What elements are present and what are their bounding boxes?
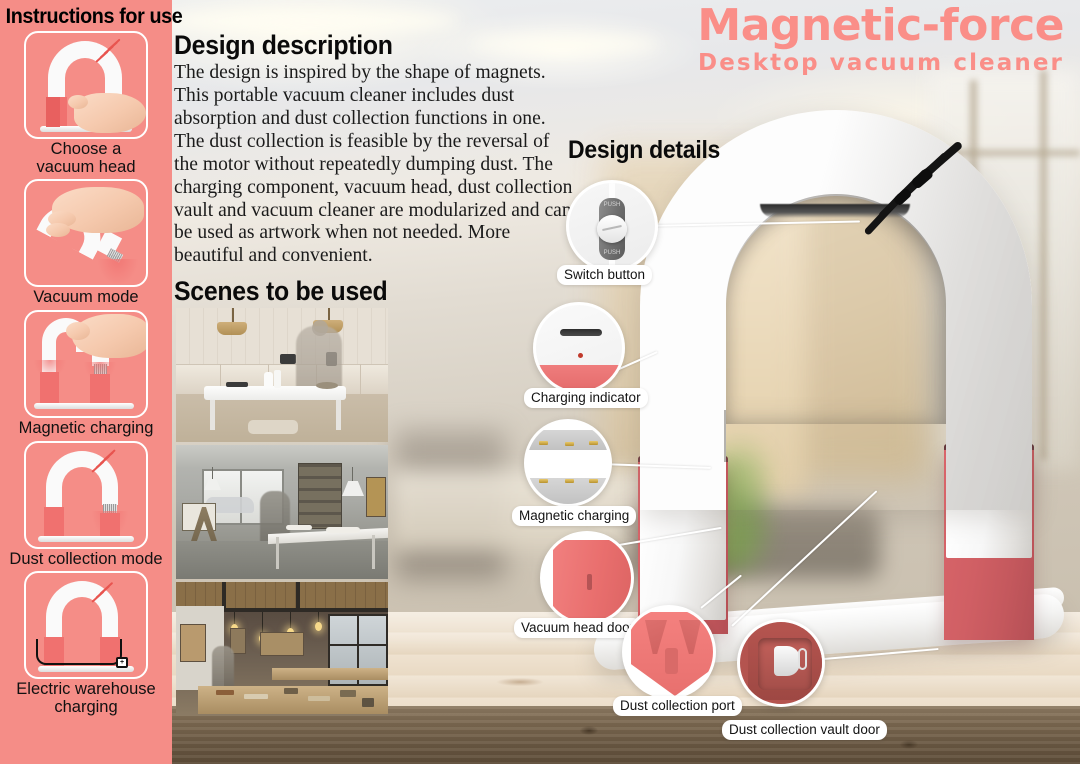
indicator-led-icon <box>578 353 583 358</box>
power-cord-icon <box>36 639 122 665</box>
sidebar-item-label: Electric warehousecharging <box>0 679 172 718</box>
contact-band-upper <box>527 430 609 450</box>
dust-vault-door-closeup <box>737 619 825 707</box>
scene-photo-kitchen <box>176 308 388 442</box>
scene-photo-studio <box>176 445 388 579</box>
sidebar-item-label: Choose avacuum head <box>0 139 172 178</box>
pendant-lamp-icon <box>342 481 364 496</box>
scenes-heading-wrap: Scenes to be used <box>174 276 406 307</box>
poster-title: Magnetic-force Desktop vacuum cleaner <box>697 4 1064 76</box>
right-white-leg <box>946 508 1032 558</box>
sidebar-item-dust-collection-mode[interactable]: Dust collection mode <box>0 441 172 571</box>
title-subtitle: Desktop vacuum cleaner <box>697 50 1064 76</box>
hand-picking-vacuum-head-icon <box>24 31 148 139</box>
sidebar-item-label: Vacuum mode <box>0 287 172 309</box>
callout-label-switch-button: Switch button <box>557 265 652 285</box>
scene-photo-loft <box>176 582 388 716</box>
hanging-bulb-icon <box>315 622 322 631</box>
description-body: The design is inspired by the shape of m… <box>174 62 574 268</box>
description-block: Design description The design is inspire… <box>174 30 574 268</box>
title-main: Magnetic-force <box>697 4 1064 49</box>
callout-label-vacuum-head-door: Vacuum head door <box>514 618 641 638</box>
product-render <box>612 110 1080 670</box>
details-heading: Design details <box>568 136 720 165</box>
person-head <box>312 320 328 336</box>
vault-handle-icon <box>798 648 807 670</box>
contact-gap <box>527 450 609 464</box>
hand-placing-on-dock-icon <box>24 310 148 418</box>
plug-icon: + <box>116 657 128 668</box>
magnetic-contacts-closeup <box>524 419 612 507</box>
dust-collection-icon <box>24 441 148 549</box>
dust-collection-port-closeup <box>622 605 716 699</box>
bookshelf-icon <box>298 463 342 529</box>
leg-seam <box>724 410 726 462</box>
callout-label-charging-indicator: Charging indicator <box>524 388 648 408</box>
sidebar-item-label: Dust collection mode <box>0 549 172 571</box>
poster-canvas: Magnetic-force Desktop vacuum cleaner De… <box>0 0 1080 764</box>
signal-wave-graphic <box>864 166 994 252</box>
switch-button-closeup: PUSH PUSH <box>566 180 658 272</box>
sidebar-item-electric-warehouse-charging[interactable]: + Electric warehousecharging <box>0 571 172 718</box>
cable-charging-icon: + <box>24 571 148 679</box>
wall-painting-icon <box>260 632 304 656</box>
charging-indicator-closeup <box>533 302 625 394</box>
person-silhouette <box>212 646 234 690</box>
instructions-sidebar: Instructions for use <box>0 0 172 764</box>
cookware-icon <box>280 354 296 364</box>
sidebar-heading: Instructions for use <box>0 3 162 31</box>
scene-photo-list <box>176 308 388 719</box>
door-latch-icon <box>587 574 592 590</box>
vacuum-head-door-closeup <box>540 531 634 625</box>
vault-door-disc-icon <box>774 646 800 676</box>
sidebar-item-vacuum-mode[interactable]: Vacuum mode <box>0 179 172 309</box>
sidebar-item-choose-vacuum-head[interactable]: Choose avacuum head <box>0 31 172 178</box>
hand-holding-vacuum-icon <box>24 179 148 287</box>
left-white-leg <box>640 508 726 620</box>
sidebar-item-magnetic-charging[interactable]: Magnetic charging <box>0 310 172 440</box>
callout-label-dust-collection-port: Dust collection port <box>613 696 742 716</box>
callout-label-magnetic-charging: Magnetic charging <box>512 506 636 526</box>
workbench <box>272 668 388 680</box>
wall-painting-icon <box>180 624 206 662</box>
coral-door-panel <box>553 540 631 624</box>
sidebar-item-label: Magnetic charging <box>0 418 172 440</box>
description-heading: Design description <box>174 30 542 61</box>
callout-label-dust-collection-vault-door: Dust collection vault door <box>722 720 887 740</box>
finger-icon <box>66 322 90 340</box>
contact-band-lower <box>527 478 609 504</box>
finger-icon <box>68 95 88 109</box>
ceiling-light-icon <box>160 10 460 32</box>
port-stem-icon <box>665 648 678 674</box>
scenes-heading: Scenes to be used <box>174 276 387 307</box>
charging-port-icon <box>560 329 602 336</box>
pendant-lamp-icon <box>217 322 247 335</box>
